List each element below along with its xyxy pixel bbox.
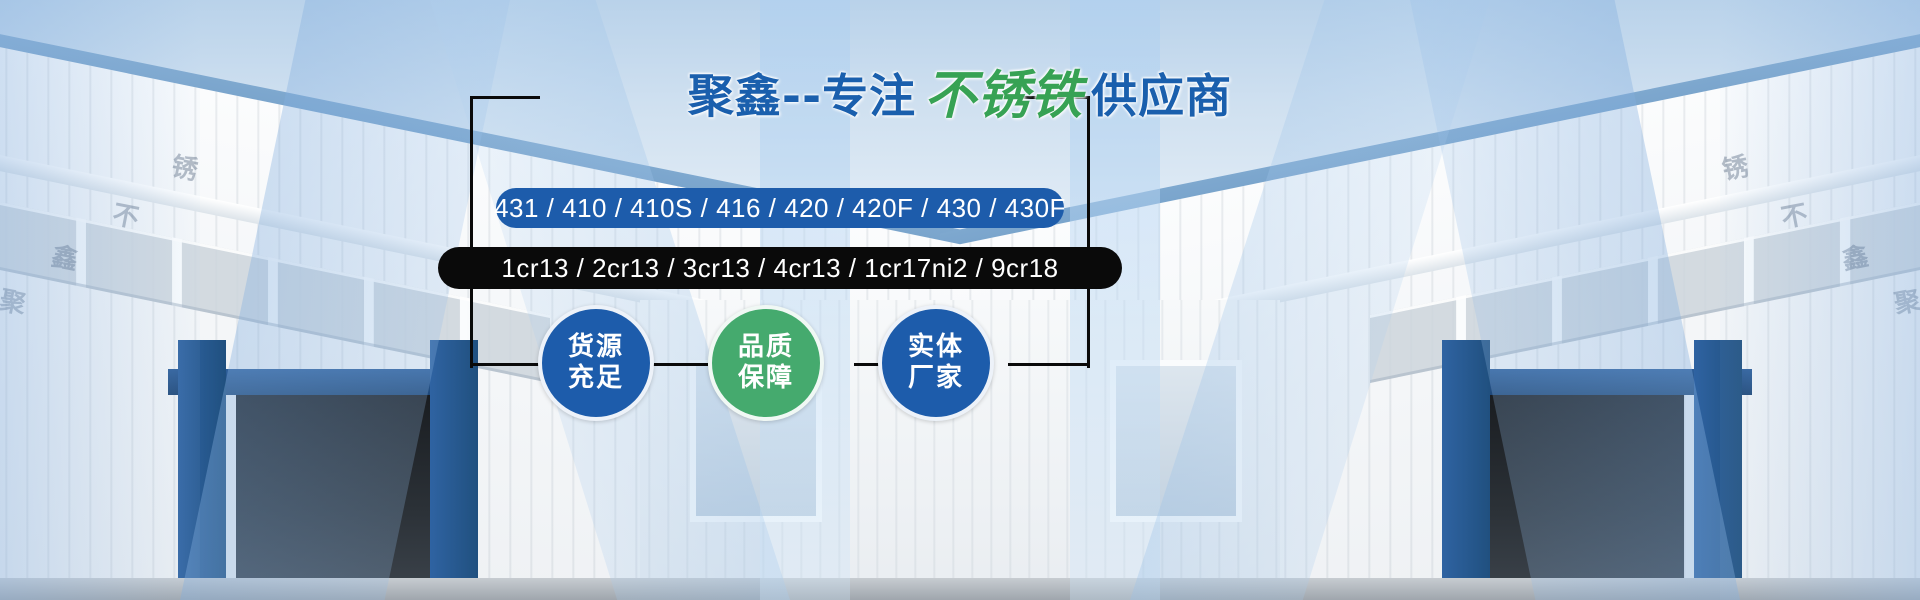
headline-product: 不锈铁	[916, 66, 1091, 126]
headline-brand: 聚鑫	[688, 69, 782, 123]
promo-banner: 锈 不 鑫 聚 锈 不 鑫 聚 聚鑫--专注不锈铁供应商 431 / 410 /…	[0, 0, 1920, 600]
feature-badge-factory-line1: 实体	[908, 333, 964, 362]
centre-window-right	[1110, 360, 1242, 522]
connector-line-2	[646, 363, 708, 366]
connector-line-4	[1008, 363, 1090, 366]
headline-dash: --	[782, 69, 822, 123]
feature-badge-supply: 货源 充足	[538, 305, 654, 421]
feature-badge-supply-line1: 货源	[568, 333, 624, 362]
factory-door-right	[1472, 395, 1684, 585]
pillar-1	[178, 340, 226, 600]
headline-role: 供应商	[1091, 69, 1232, 123]
pillar-4	[1442, 340, 1490, 600]
feature-badge-factory: 实体 厂家	[878, 305, 994, 421]
feature-badge-supply-line2: 充足	[568, 364, 624, 393]
grade-bar-secondary: 1cr13 / 2cr13 / 3cr13 / 4cr13 / 1cr17ni2…	[438, 247, 1122, 289]
feature-badge-quality-line1: 品质	[738, 333, 794, 362]
feature-badge-quality: 品质 保障	[708, 305, 824, 421]
headline-focus: 专注	[822, 69, 916, 123]
ground-strip	[0, 578, 1920, 600]
feature-badge-factory-line2: 厂家	[908, 364, 964, 393]
headline: 聚鑫--专注不锈铁供应商	[0, 70, 1920, 122]
feature-badge-quality-line2: 保障	[738, 364, 794, 393]
pillar-3	[1694, 340, 1742, 600]
factory-door-left	[236, 395, 448, 585]
feature-circle-row: 货源 充足 品质 保障 实体 厂家	[470, 305, 1090, 425]
grade-bar-primary: 431 / 410 / 410S / 416 / 420 / 420F / 43…	[496, 188, 1064, 228]
